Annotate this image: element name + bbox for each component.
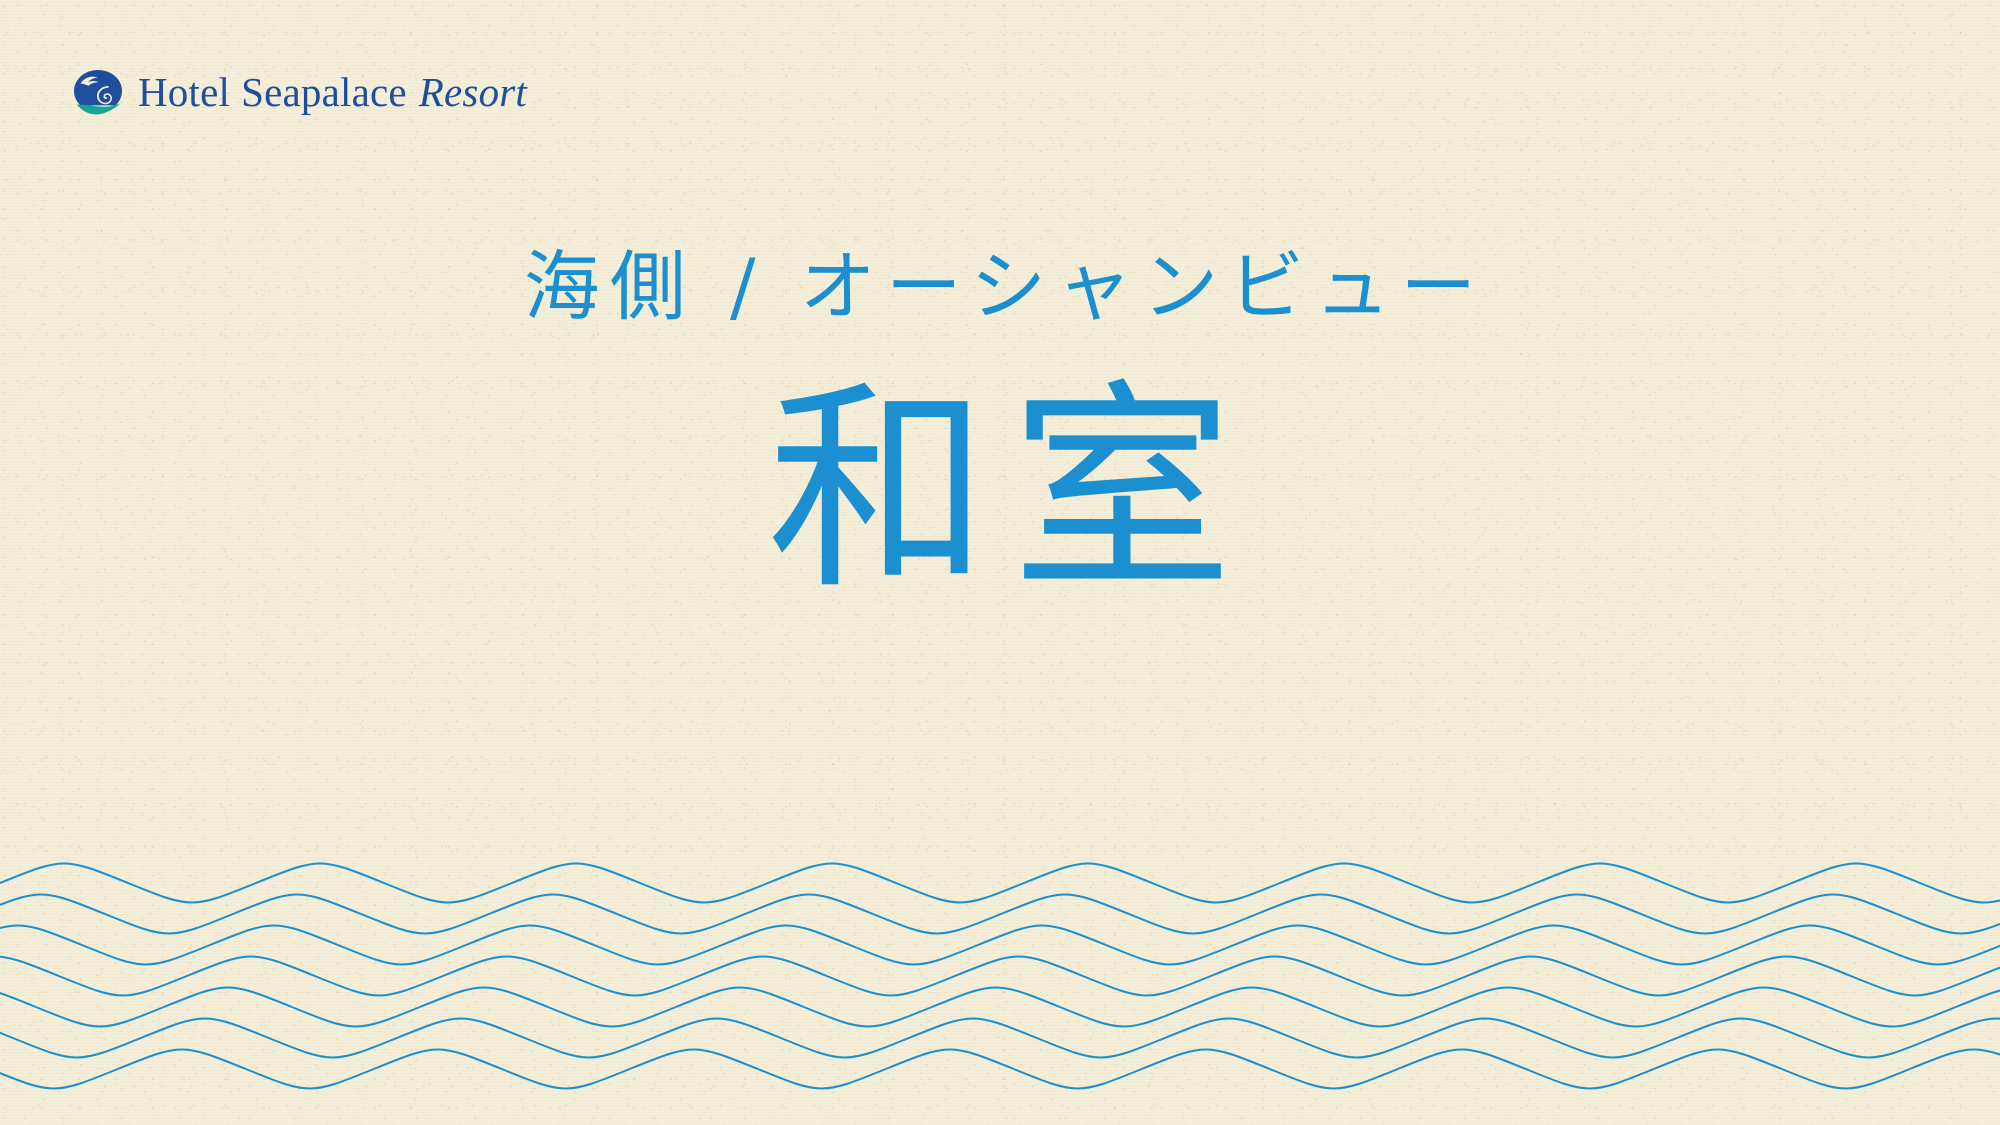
bottom-wave-lines-decoration — [0, 855, 2000, 1125]
wave-line — [0, 926, 2000, 965]
wave-line — [0, 895, 2000, 934]
hero-subtitle: 海側 / オーシャンビュー — [514, 243, 1486, 330]
wave-line — [0, 1019, 2000, 1058]
wave-line — [0, 1050, 2000, 1089]
page-title: 和室 — [745, 376, 1255, 607]
wave-line — [0, 957, 2000, 996]
wave-line — [0, 988, 2000, 1027]
hero-section: 海側 / オーシャンビュー 和室 — [0, 0, 2000, 850]
wave-line — [0, 864, 2000, 903]
